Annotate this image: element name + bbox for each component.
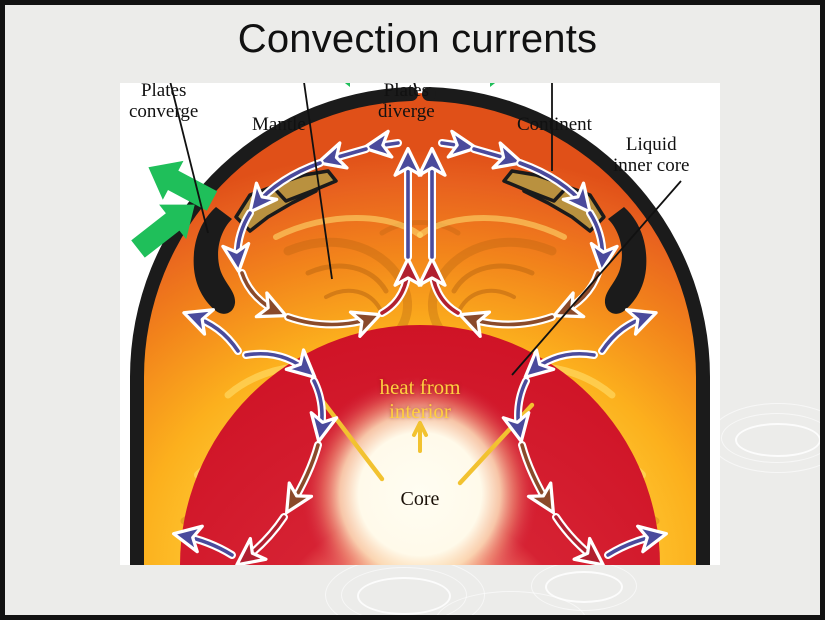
label-mantle: Mantle [252,115,306,136]
label-plates-diverge-line1: Plates [378,83,435,102]
label-plates-converge-line1: Plates [129,83,198,102]
ripple-decoration [341,567,467,620]
ripple-decoration [357,577,451,615]
label-plates-diverge-line2: diverge [378,102,435,123]
label-mantle-line1: Mantle [252,115,306,136]
ripple-decoration [545,571,623,603]
label-plates-converge: Plates converge [129,83,198,122]
label-liquid-inner-core-line1: Liquid [613,135,689,156]
ripple-decoration [721,413,825,463]
label-liquid-inner-core-line2: inner core [613,156,689,177]
slide: Convection currents [0,0,825,620]
label-heat-from-interior-line1: heat from [356,376,484,400]
diagram-panel: Plates converge Mantle Plates diverge Co… [120,83,720,565]
ripple-decoration [325,557,485,620]
label-heat-from-interior-line2: interior [356,400,484,424]
ripple-decoration [735,423,821,457]
label-plates-converge-line2: converge [129,102,198,123]
label-core-line1: Core [370,488,470,511]
ripple-decoration [531,561,637,611]
label-continent: Continent [517,115,592,136]
label-plates-diverge: Plates diverge [378,83,435,122]
label-liquid-inner-core: Liquid inner core [613,135,689,176]
ripple-decoration [435,591,587,620]
label-heat-from-interior: heat from interior [356,376,484,423]
page-title: Convection currents [5,17,825,62]
label-core: Core [370,488,470,511]
label-continent-line1: Continent [517,115,592,136]
ripple-decoration [709,403,825,473]
